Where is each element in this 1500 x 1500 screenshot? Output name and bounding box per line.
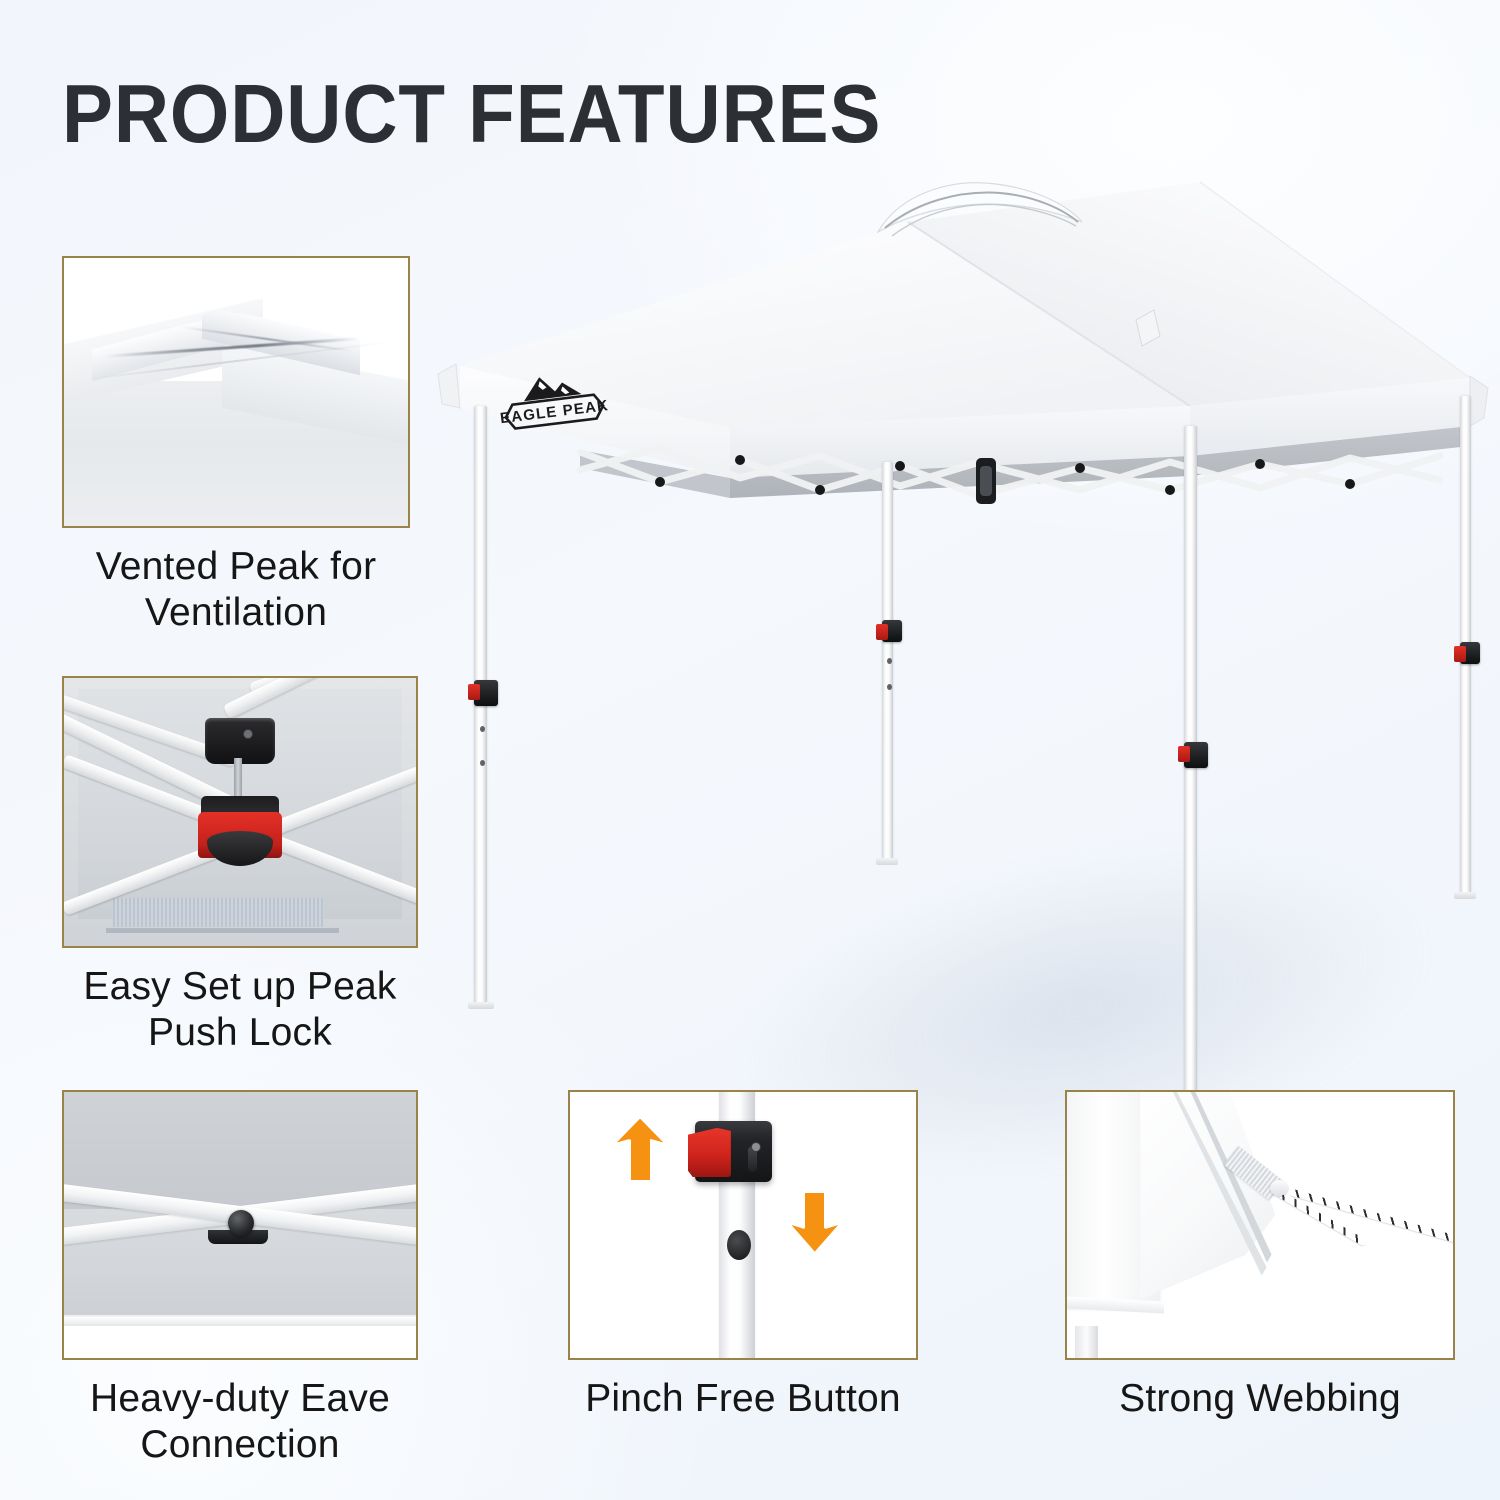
- caption-line-1: Pinch Free Button: [568, 1376, 918, 1422]
- feature-caption-eave-connection: Heavy-duty Eave Connection: [62, 1376, 418, 1468]
- caption-line-2: Push Lock: [62, 1010, 418, 1056]
- page-title: PRODUCT FEATURES: [62, 72, 881, 155]
- feature-thumb-vented-peak: [62, 256, 410, 528]
- leg-button-back-left: [882, 620, 902, 642]
- feature-card-vented-peak: Vented Peak for Ventilation: [62, 256, 410, 528]
- leg-foot-front-left: [468, 1002, 494, 1009]
- feature-caption-vented-peak: Vented Peak for Ventilation: [62, 544, 410, 636]
- arrow-down-icon: [791, 1225, 838, 1252]
- leg-front-left: [474, 406, 487, 1006]
- caption-line-2: Connection: [62, 1422, 418, 1468]
- guy-rope: [1278, 1185, 1453, 1243]
- leg-button-front-left: [474, 680, 498, 706]
- leg-pin-hole: [480, 726, 485, 732]
- leg-foot-back-right: [1454, 892, 1476, 899]
- caption-line-1: Easy Set up Peak: [62, 964, 418, 1010]
- feature-card-pinch-free-button: Pinch Free Button: [568, 1090, 918, 1360]
- feature-thumb-strong-webbing: [1065, 1090, 1455, 1360]
- caption-line-1: Heavy-duty Eave: [62, 1376, 418, 1422]
- leg-pin-hole: [887, 684, 892, 690]
- arrow-up-shaft: [631, 1137, 650, 1180]
- leg-button-front-right: [1184, 742, 1208, 768]
- leg-pin-hole: [480, 760, 485, 766]
- feature-card-peak-push-lock: Easy Set up Peak Push Lock: [62, 676, 418, 948]
- leg-front-right: [1184, 426, 1197, 1126]
- feature-thumb-pinch-free-button: [568, 1090, 918, 1360]
- product-features-infographic: PRODUCT FEATURES: [0, 0, 1500, 1500]
- caption-line-1: Strong Webbing: [1065, 1376, 1455, 1422]
- leg-foot-back-left: [876, 858, 898, 865]
- feature-card-strong-webbing: Strong Webbing: [1065, 1090, 1455, 1360]
- red-release-button: [688, 1128, 731, 1177]
- leg-pin-hole: [887, 658, 892, 664]
- feature-card-eave-connection: Heavy-duty Eave Connection: [62, 1090, 418, 1360]
- feature-caption-peak-push-lock: Easy Set up Peak Push Lock: [62, 964, 418, 1056]
- feature-caption-pinch-free-button: Pinch Free Button: [568, 1376, 918, 1422]
- feature-caption-strong-webbing: Strong Webbing: [1065, 1376, 1455, 1422]
- feature-thumb-peak-push-lock: [62, 676, 418, 948]
- caption-line-2: Ventilation: [62, 590, 410, 636]
- hero-canopy-image: EAGLE PEAK: [430, 160, 1490, 1090]
- caption-line-1: Vented Peak for: [62, 544, 410, 590]
- leg-button-back-right: [1460, 642, 1480, 664]
- feature-thumb-eave-connection: [62, 1090, 418, 1360]
- canopy-legs: [430, 160, 1490, 1090]
